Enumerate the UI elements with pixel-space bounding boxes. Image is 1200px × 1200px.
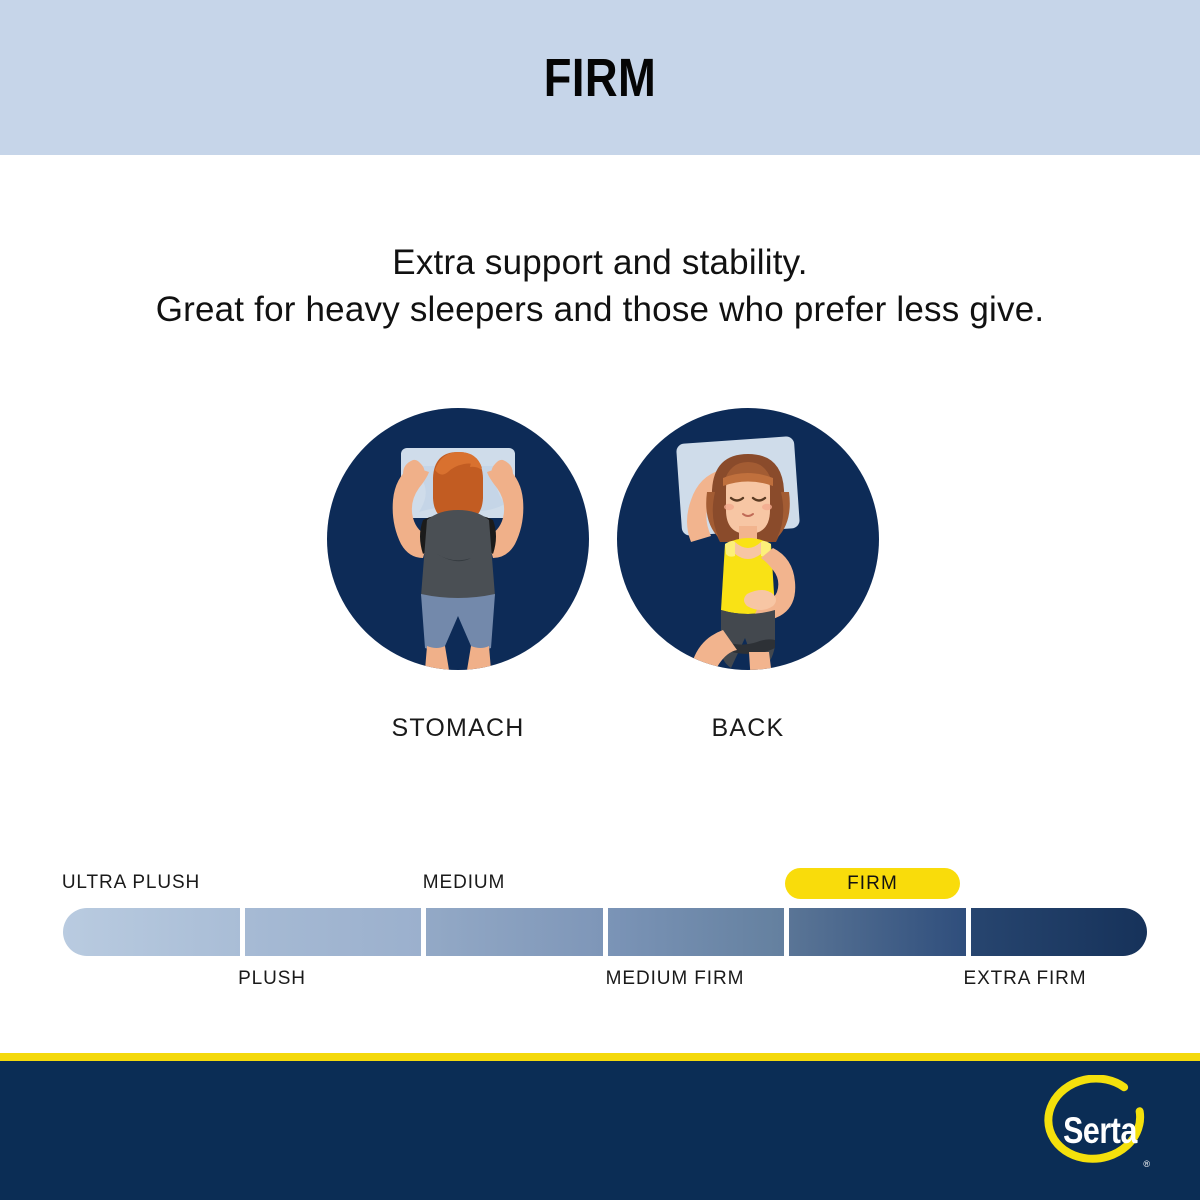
sleep-positions-row: STOMACH [0,408,1200,753]
scale-label-medium: MEDIUM [423,872,505,894]
page-header: FIRM [0,0,1200,155]
scale-segment-medium-firm[interactable] [608,908,785,956]
scale-label-extra-firm: EXTRA FIRM [963,968,1086,990]
scale-segment-ultra-plush[interactable] [63,908,240,956]
stomach-sleeper-illustration [327,408,589,670]
selected-firmness-badge[interactable]: FIRM [785,868,960,899]
sleep-position-back: BACK [617,408,879,743]
subtitle-block: Extra support and stability. Great for h… [0,240,1200,333]
scale-label-ultra-plush: ULTRA PLUSH [62,872,200,894]
scale-segment-medium[interactable] [426,908,603,956]
subtitle-line-2: Great for heavy sleepers and those who p… [0,287,1200,334]
back-sleeper-illustration [617,408,879,670]
page-footer: Serta ® [0,1061,1200,1200]
firmness-scale: ULTRA PLUSH PLUSH MEDIUM MEDIUM FIRM EXT… [0,860,1200,1010]
firmness-info-page: FIRM Extra support and stability. Great … [0,0,1200,1200]
serta-logo-wordmark: Serta [1054,1075,1146,1187]
subtitle-line-1: Extra support and stability. [0,240,1200,287]
back-sleeper-icon [617,408,879,670]
stomach-sleeper-icon [327,408,589,670]
selected-firmness-label: FIRM [847,873,898,895]
scale-segment-firm[interactable] [789,908,966,956]
firmness-scale-bar[interactable] [63,908,1147,956]
scale-segment-extra-firm[interactable] [971,908,1148,956]
scale-label-medium-firm: MEDIUM FIRM [606,968,745,990]
sleep-position-label-back: BACK [617,714,879,743]
scale-label-plush: PLUSH [238,968,306,990]
scale-segment-plush[interactable] [245,908,422,956]
registered-trademark-mark: ® [1143,1159,1150,1169]
page-title: FIRM [544,47,657,109]
footer-accent-stripe [0,1053,1200,1061]
sleep-position-label-stomach: STOMACH [327,714,589,743]
sleep-position-stomach: STOMACH [327,408,589,743]
serta-logo: Serta ® [1044,1075,1156,1187]
